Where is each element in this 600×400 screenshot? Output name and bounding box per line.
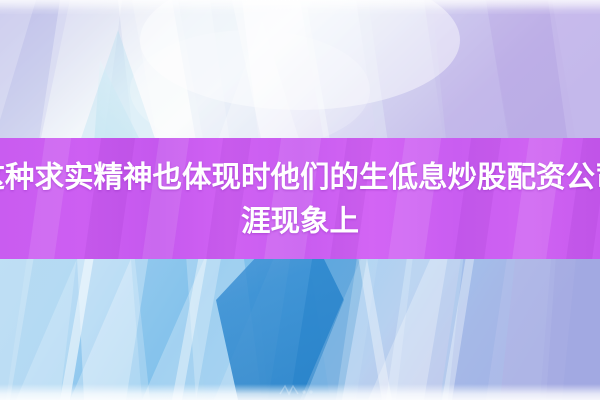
headline-block: 这种求实精神也体现时他们的生低息炒股配资公司 涯现象上 <box>0 138 600 259</box>
headline-line-1: 这种求实精神也体现时他们的生低息炒股配资公司 <box>0 155 600 199</box>
promo-banner: 这种求实精神也体现时他们的生低息炒股配资公司 涯现象上 <box>0 0 600 400</box>
headline-line-2: 涯现象上 <box>241 199 359 243</box>
faint-watermark-icon <box>278 384 322 396</box>
top-haze <box>0 0 600 10</box>
